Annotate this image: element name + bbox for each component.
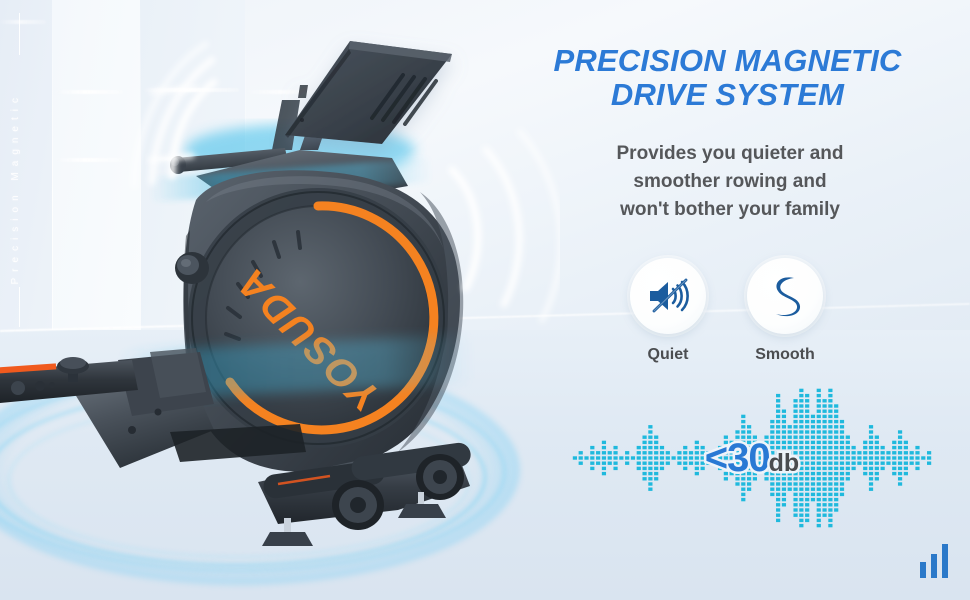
waveform-cell	[776, 415, 780, 418]
waveform-cell	[793, 514, 797, 517]
waveform-cell	[770, 430, 774, 433]
waveform-cell	[793, 404, 797, 407]
noise-level-readout: <30db	[572, 438, 932, 491]
waveform-cell	[776, 410, 780, 413]
waveform-cell	[793, 430, 797, 433]
waveform-cell	[799, 430, 803, 433]
waveform-cell	[776, 430, 780, 433]
waveform-cell	[834, 508, 838, 511]
rowing-machine-illustration: YOSUDA	[0, 0, 560, 600]
waveform-cell	[741, 498, 745, 501]
waveform-cell	[817, 399, 821, 402]
waveform-cell	[811, 420, 815, 423]
waveform-cell	[817, 514, 821, 517]
page-title: PRECISION MAGNETIC DRIVE SYSTEM	[505, 44, 950, 112]
waveform-cell	[834, 430, 838, 433]
badge-label-quiet: Quiet	[608, 346, 728, 364]
waveform-cell	[799, 389, 803, 392]
feature-badge-smooth: Smooth	[747, 258, 823, 334]
waveform-cell	[648, 425, 652, 428]
s-curve-icon	[767, 273, 803, 319]
tension-knob	[175, 252, 209, 284]
waveform-cell	[776, 508, 780, 511]
waveform-cell	[799, 415, 803, 418]
headline-line-1: PRECISION MAGNETIC	[505, 44, 950, 78]
waveform-cell	[793, 508, 797, 511]
waveform-cell	[805, 503, 809, 506]
waveform-cell	[776, 503, 780, 506]
waveform-cell	[776, 404, 780, 407]
waveform-cell	[782, 425, 786, 428]
waveform-cell	[648, 430, 652, 433]
waveform-cell	[747, 430, 751, 433]
waveform-cell	[834, 493, 838, 496]
waveform-cell	[799, 508, 803, 511]
waveform-cell	[834, 415, 838, 418]
console-monitor	[285, 41, 452, 144]
waveform-cell	[799, 394, 803, 397]
waveform-cell	[828, 394, 832, 397]
waveform-cell	[811, 415, 815, 418]
waveform-cell	[828, 389, 832, 392]
waveform-cell	[822, 410, 826, 413]
feature-badges: Quiet Smooth	[620, 258, 865, 368]
waveform-cell	[793, 503, 797, 506]
waveform-cell	[793, 493, 797, 496]
waveform-cell	[811, 498, 815, 501]
subcopy-line-2: smoother rowing and	[525, 168, 935, 196]
waveform-cell	[805, 514, 809, 517]
waveform-cell	[782, 498, 786, 501]
waveform-cell	[793, 425, 797, 428]
waveform-cell	[822, 399, 826, 402]
waveform-cell	[776, 519, 780, 522]
waveform-cell	[776, 420, 780, 423]
waveform-cell	[811, 425, 815, 428]
noise-level-value: <30	[705, 436, 770, 480]
subtitle-text: Provides you quieter and smoother rowing…	[525, 140, 935, 224]
waveform-cell	[799, 399, 803, 402]
waveform-cell	[799, 493, 803, 496]
waveform-cell	[782, 420, 786, 423]
waveform-cell	[822, 415, 826, 418]
waveform-cell	[828, 420, 832, 423]
feature-badge-quiet: Quiet	[630, 258, 706, 334]
waveform-cell	[799, 503, 803, 506]
waveform-cell	[741, 420, 745, 423]
waveform-cell	[799, 410, 803, 413]
signal-bars-icon	[918, 542, 952, 578]
waveform-cell	[817, 508, 821, 511]
transport-wheel	[332, 480, 384, 530]
waveform-cell	[782, 430, 786, 433]
waveform-cell	[776, 425, 780, 428]
waveform-cell	[805, 404, 809, 407]
waveform-cell	[793, 399, 797, 402]
waveform-cell	[828, 524, 832, 527]
waveform-cell	[741, 425, 745, 428]
waveform-cell	[799, 498, 803, 501]
waveform-cell	[747, 425, 751, 428]
waveform-cell	[793, 498, 797, 501]
badge-label-smooth: Smooth	[725, 346, 845, 364]
waveform-cell	[828, 425, 832, 428]
waveform-cell	[799, 404, 803, 407]
waveform-cell	[898, 430, 902, 433]
headline-line-2: DRIVE SYSTEM	[505, 78, 950, 112]
waveform-cell	[799, 524, 803, 527]
waveform-cell	[828, 415, 832, 418]
waveform-cell	[828, 399, 832, 402]
waveform-cell	[782, 415, 786, 418]
waveform-cell	[817, 389, 821, 392]
waveform-cell	[817, 524, 821, 527]
waveform-cell	[840, 493, 844, 496]
waveform-cell	[822, 425, 826, 428]
waveform-cell	[828, 514, 832, 517]
waveform-cell	[840, 420, 844, 423]
waveform-cell	[741, 493, 745, 496]
waveform-cell	[822, 508, 826, 511]
waveform-cell	[834, 503, 838, 506]
waveform-cell	[828, 508, 832, 511]
flywheel-disc: YOSUDA	[188, 188, 448, 448]
waveform-cell	[840, 425, 844, 428]
waveform-cell	[770, 493, 774, 496]
waveform-cell	[817, 404, 821, 407]
waveform-cell	[776, 493, 780, 496]
waveform-cell	[776, 498, 780, 501]
waveform-cell	[822, 514, 826, 517]
waveform-cell	[793, 415, 797, 418]
waveform-cell	[805, 519, 809, 522]
waveform-cell	[822, 430, 826, 433]
product-feature-banner: Precision Magnetic	[0, 0, 970, 600]
waveform-cell	[840, 430, 844, 433]
waveform-cell	[828, 498, 832, 501]
waveform-cell	[776, 394, 780, 397]
waveform-cell	[822, 404, 826, 407]
waveform-cell	[735, 430, 739, 433]
waveform-cell	[805, 399, 809, 402]
waveform-cell	[788, 430, 792, 433]
waveform-cell	[799, 420, 803, 423]
noise-level-unit: db	[769, 449, 800, 477]
waveform-cell	[805, 394, 809, 397]
waveform-cell	[805, 415, 809, 418]
leveling-foot	[262, 518, 313, 546]
waveform-cell	[869, 425, 873, 428]
waveform-cell	[834, 420, 838, 423]
waveform-cell	[834, 404, 838, 407]
waveform-cell	[741, 415, 745, 418]
waveform-cell	[817, 394, 821, 397]
subcopy-line-1: Provides you quieter and	[525, 140, 935, 168]
waveform-cell	[822, 498, 826, 501]
waveform-cell	[776, 514, 780, 517]
waveform-cell	[822, 493, 826, 496]
waveform-cell	[822, 420, 826, 423]
waveform-cell	[817, 410, 821, 413]
waveform-cell	[799, 514, 803, 517]
waveform-cell	[770, 425, 774, 428]
waveform-cell	[805, 430, 809, 433]
waveform-cell	[817, 519, 821, 522]
subcopy-line-3: won't bother your family	[525, 196, 935, 224]
waveform-cell	[828, 404, 832, 407]
waveform-cell	[799, 425, 803, 428]
waveform-cell	[776, 399, 780, 402]
waveform-cell	[817, 430, 821, 433]
waveform-cell	[805, 493, 809, 496]
waveform-cell	[799, 519, 803, 522]
muted-speaker-icon	[646, 276, 690, 316]
waveform-cell	[828, 493, 832, 496]
waveform-cell	[782, 493, 786, 496]
waveform-cell	[793, 420, 797, 423]
waveform-cell	[770, 420, 774, 423]
waveform-cell	[805, 420, 809, 423]
waveform-cell	[805, 498, 809, 501]
waveform-cell	[828, 430, 832, 433]
waveform-cell	[811, 493, 815, 496]
badge-circle-smooth	[747, 258, 823, 334]
waveform-cell	[817, 493, 821, 496]
waveform-cell	[805, 508, 809, 511]
waveform-cell	[828, 410, 832, 413]
badge-circle-quiet	[630, 258, 706, 334]
waveform-cell	[782, 503, 786, 506]
waveform-cell	[741, 430, 745, 433]
waveform-cell	[805, 425, 809, 428]
waveform-cell	[817, 415, 821, 418]
waveform-cell	[817, 498, 821, 501]
waveform-cell	[834, 410, 838, 413]
waveform-cell	[788, 425, 792, 428]
waveform-cell	[834, 498, 838, 501]
waveform-cell	[828, 503, 832, 506]
waveform-cell	[817, 503, 821, 506]
waveform-cell	[811, 430, 815, 433]
waveform-cell	[817, 425, 821, 428]
waveform-cell	[782, 410, 786, 413]
waveform-cell	[805, 410, 809, 413]
waveform-cell	[869, 430, 873, 433]
waveform-cell	[834, 425, 838, 428]
waveform-cell	[817, 420, 821, 423]
waveform-cell	[822, 503, 826, 506]
waveform-cell	[828, 519, 832, 522]
waveform-cell	[793, 410, 797, 413]
